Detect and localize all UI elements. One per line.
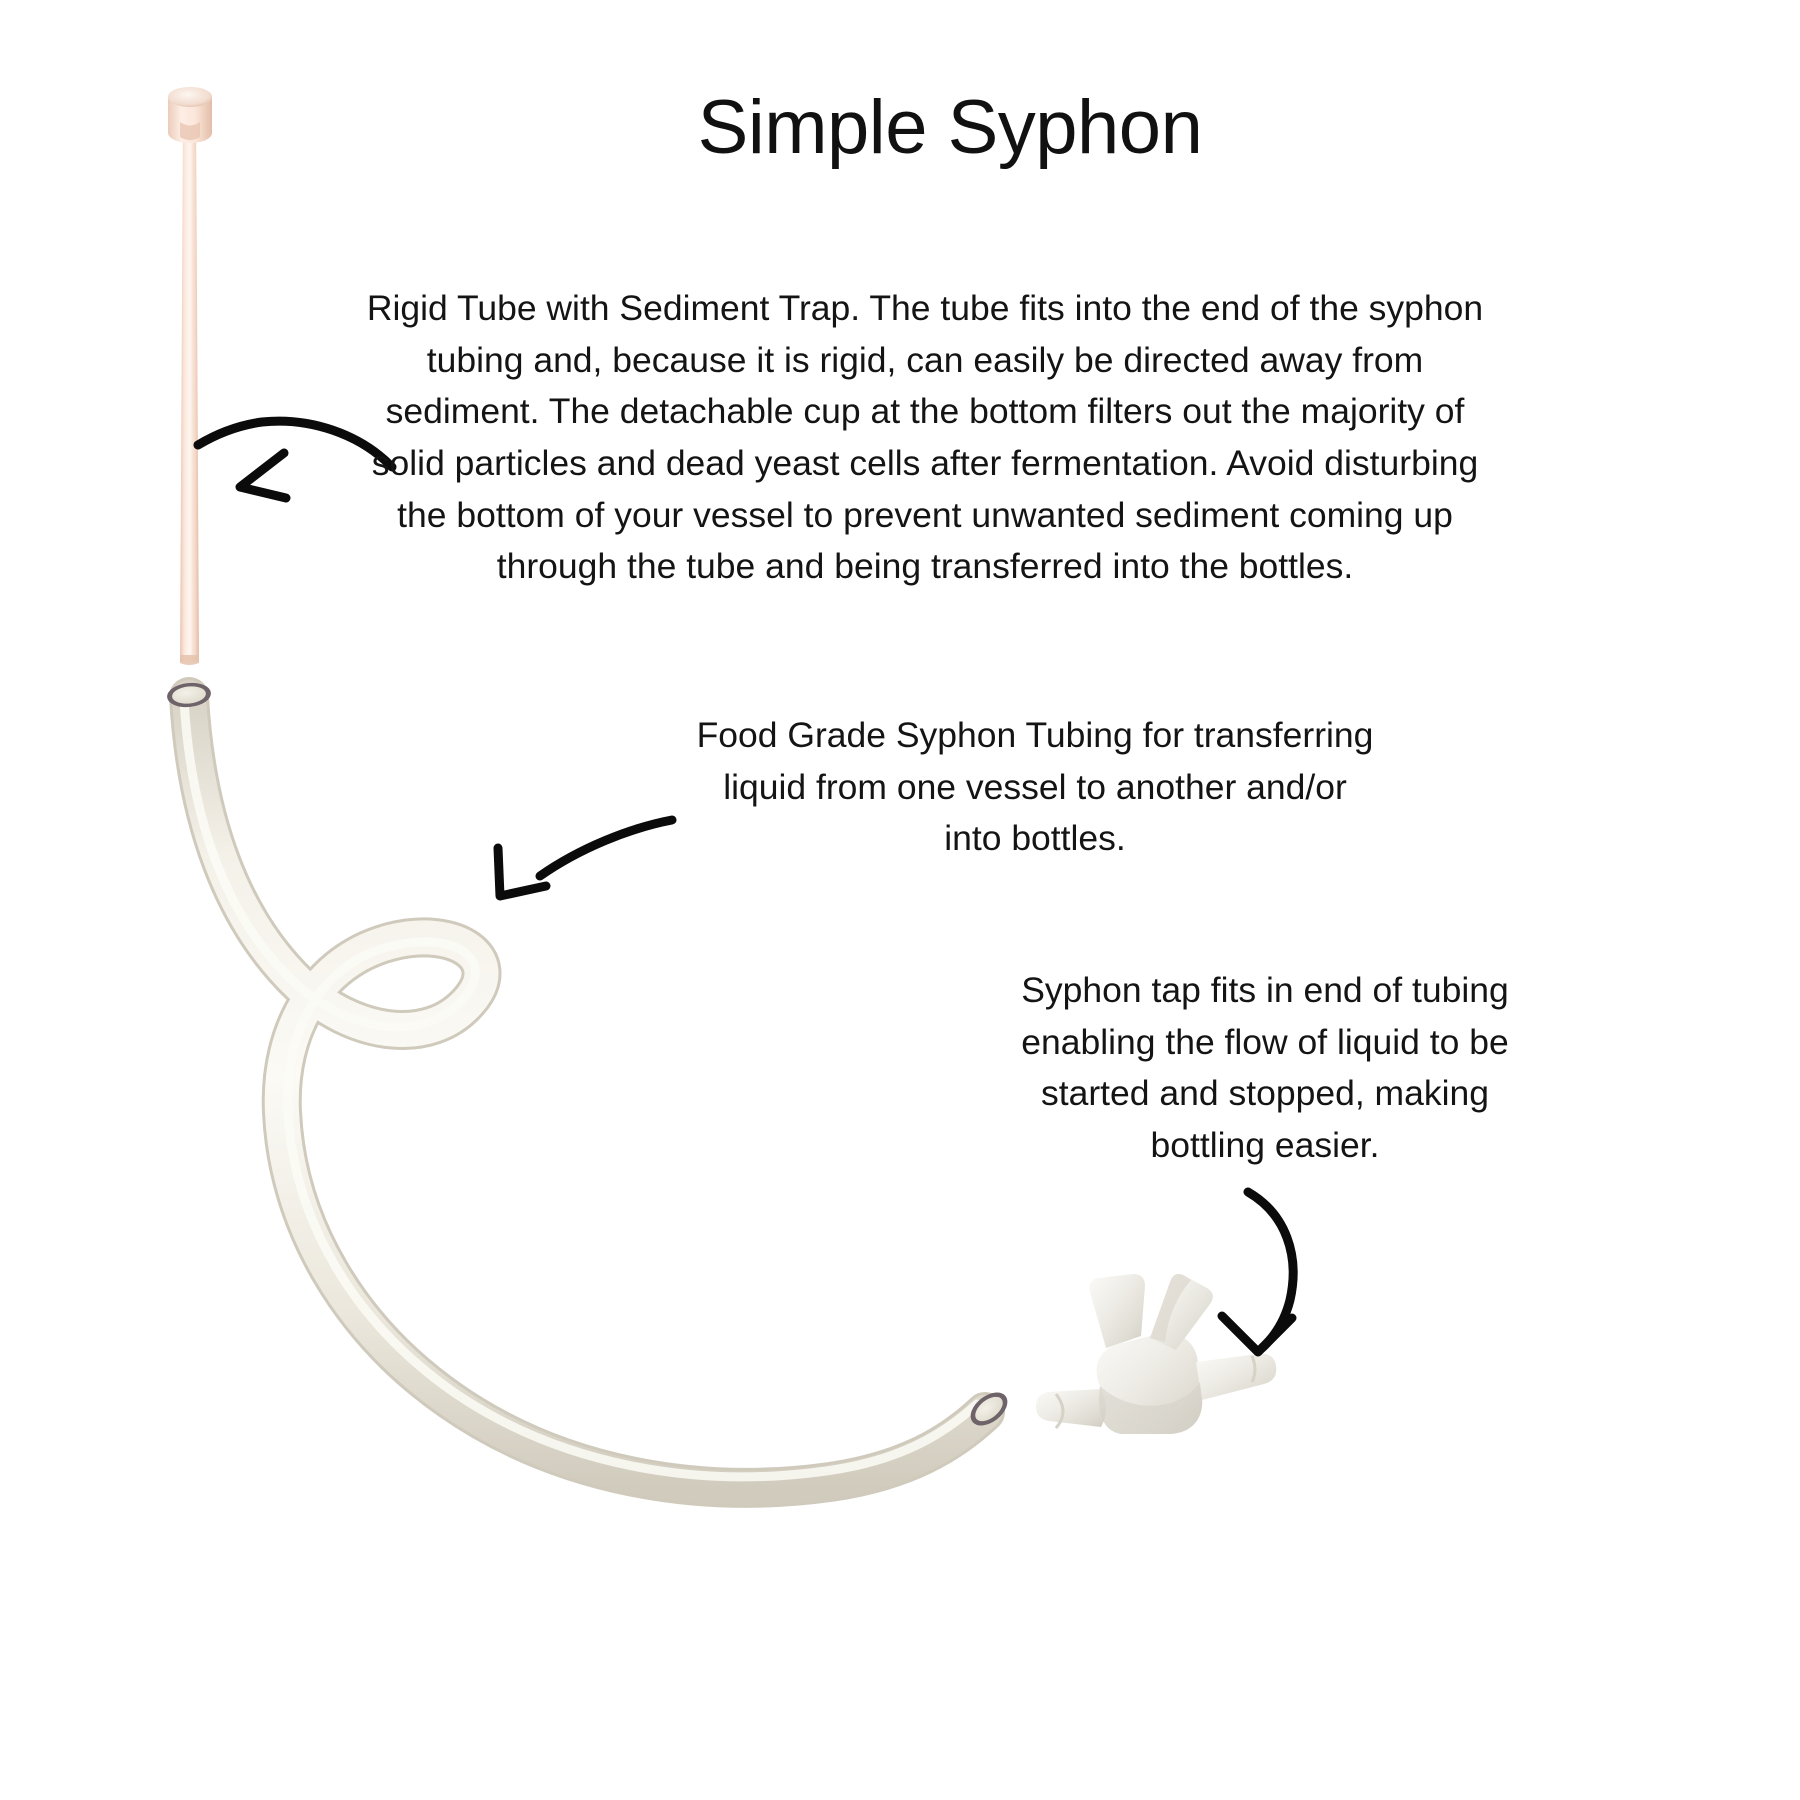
annotation-arrows [0,0,1800,1800]
syphon-tap-description: Syphon tap fits in end of tubing enablin… [985,965,1545,1172]
product-photo-artwork [0,0,1800,1800]
rigid-tube-description: Rigid Tube with Sediment Trap. The tube … [360,283,1490,593]
tubing-open-end-bottom [964,1386,1013,1432]
syphon-infographic: Simple Syphon Rigid Tube with Sediment T… [0,0,1800,1800]
syphon-tap-part [1036,1274,1276,1434]
page-title: Simple Syphon [600,88,1300,168]
rigid-tube-part [168,87,212,665]
tubing-open-end-top [166,681,212,709]
arrow-to-tubing-icon [498,820,672,896]
arrow-to-tap-icon [1222,1192,1293,1352]
food-grade-syphon-description: Food Grade Syphon Tubing for transferrin… [690,710,1380,865]
